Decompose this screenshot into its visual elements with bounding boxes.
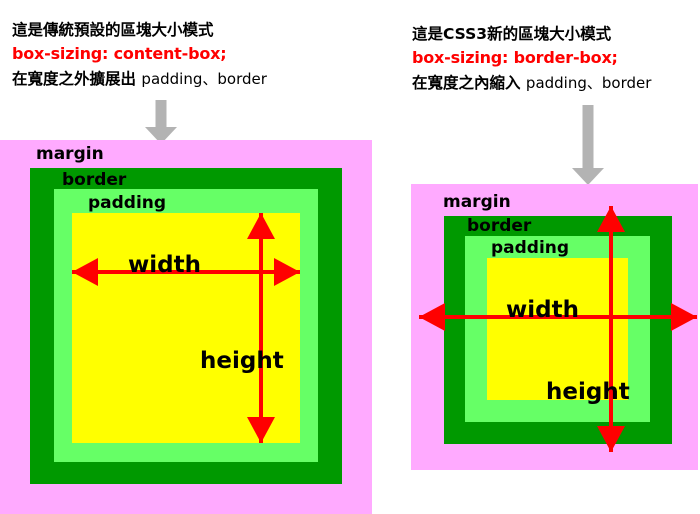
caption-right-line-1: 這是CSS3新的區塊大小模式 (412, 22, 651, 46)
caption-right-line-3-bold: 在寬度之內縮入 (412, 74, 521, 92)
arrow-shaft (583, 105, 594, 169)
caption-right-line-3: 在寬度之內縮入 padding、border (412, 71, 651, 95)
caption-left-code: box-sizing: content-box; (12, 42, 267, 67)
caption-right-code: box-sizing: border-box; (412, 46, 651, 71)
box-model-diagram-border-box: margin border padding width height (411, 184, 698, 470)
border-label: border (62, 170, 126, 190)
height-label: height (200, 348, 284, 374)
border-label: border (467, 216, 531, 236)
arrow-head (572, 168, 604, 185)
content-box (72, 213, 300, 443)
down-arrow-icon-left (145, 100, 177, 144)
caption-left-line-1: 這是傳統預設的區塊大小模式 (12, 18, 267, 42)
height-label: height (546, 379, 630, 405)
caption-right-line-3-light: padding、border (526, 74, 651, 92)
arrow-shaft (156, 100, 167, 128)
margin-label: margin (36, 144, 104, 164)
down-arrow-icon-right (572, 105, 604, 185)
caption-left-line-3-bold: 在寬度之外擴展出 (12, 70, 136, 88)
caption-border-box: 這是CSS3新的區塊大小模式 box-sizing: border-box; 在… (412, 22, 651, 95)
box-model-diagram-content-box: margin border padding width height (0, 140, 372, 514)
caption-left-line-3-light: padding、border (141, 70, 266, 88)
width-label: width (506, 297, 579, 323)
padding-label: padding (88, 193, 166, 213)
caption-content-box: 這是傳統預設的區塊大小模式 box-sizing: content-box; 在… (12, 18, 267, 91)
margin-label: margin (443, 192, 511, 212)
padding-label: padding (491, 238, 569, 258)
width-label: width (128, 252, 201, 278)
caption-left-line-3: 在寬度之外擴展出 padding、border (12, 67, 267, 91)
